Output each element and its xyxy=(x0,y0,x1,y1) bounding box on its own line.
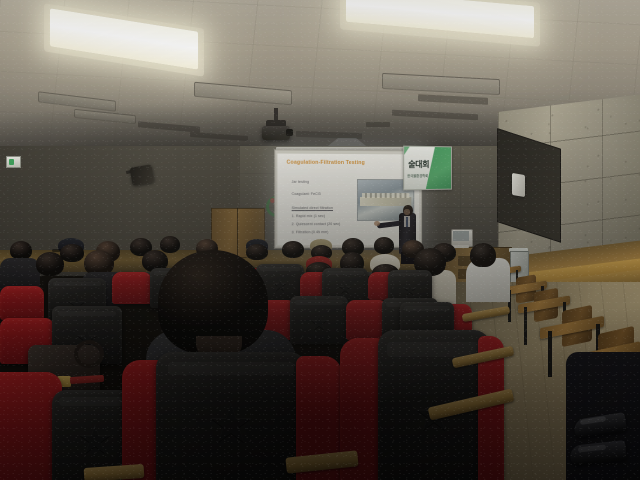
chair-star-emblem: ★ xyxy=(272,277,287,294)
desk-leg xyxy=(548,331,552,377)
audience-head xyxy=(60,244,84,262)
slide-line-6: 3. Filtration (0.45 mm) xyxy=(292,230,329,234)
banner-text: 술대회 xyxy=(408,159,429,170)
chair-star-emblem: ★ xyxy=(310,312,329,333)
banner-subtext: 한국물환경학회 xyxy=(407,173,428,178)
wall-speaker-left-icon xyxy=(130,164,155,186)
audience-head xyxy=(160,236,180,253)
slide-line-4: 1. Rapid mix (1 sec) xyxy=(292,214,325,218)
chair-star-emblem: ★ xyxy=(207,397,255,451)
slide-title: Coagulation-Filtration Testing xyxy=(287,160,365,166)
door-seam xyxy=(237,208,238,256)
conference-banner: 술대회 한국물환경학회 xyxy=(403,146,452,191)
slide-line-5: 2. Quiescent contact (20 sec) xyxy=(292,222,341,226)
handbag-handle xyxy=(74,340,104,368)
seat-cushion xyxy=(0,286,44,320)
presenter-hand xyxy=(374,221,380,226)
wall-speaker-right-icon xyxy=(512,173,525,197)
lecture-hall-photo: Coagulation-Filtration Testing Jar testi… xyxy=(0,0,640,480)
monitor-screen xyxy=(453,231,469,241)
slide-line-1: Jar testing xyxy=(292,180,309,184)
audience-head xyxy=(470,243,496,267)
seat-back-shell: ★ xyxy=(156,352,306,480)
chair-star-emblem: ★ xyxy=(338,281,352,297)
audience-head xyxy=(36,252,64,276)
slide-line-2: Coagulant: FeCl3 xyxy=(292,192,321,196)
chair-star-emblem: ★ xyxy=(77,420,113,460)
seat-back-shell: ★ xyxy=(290,296,348,344)
seat-cushion xyxy=(112,272,152,304)
emergency-exit-sign xyxy=(6,156,21,168)
audience-head xyxy=(374,237,394,254)
projector-lens-icon xyxy=(286,129,293,136)
audience-head xyxy=(246,244,268,260)
presenter-tie xyxy=(406,217,408,227)
slide-surface: Coagulation-Filtration Testing Jar testi… xyxy=(277,154,419,246)
slide-line-3: Simulated direct filtration xyxy=(292,206,333,210)
presenter-face xyxy=(404,209,410,215)
desk-leg xyxy=(524,307,527,345)
chair-star-emblem: ★ xyxy=(403,283,416,298)
audience-head xyxy=(282,241,304,258)
